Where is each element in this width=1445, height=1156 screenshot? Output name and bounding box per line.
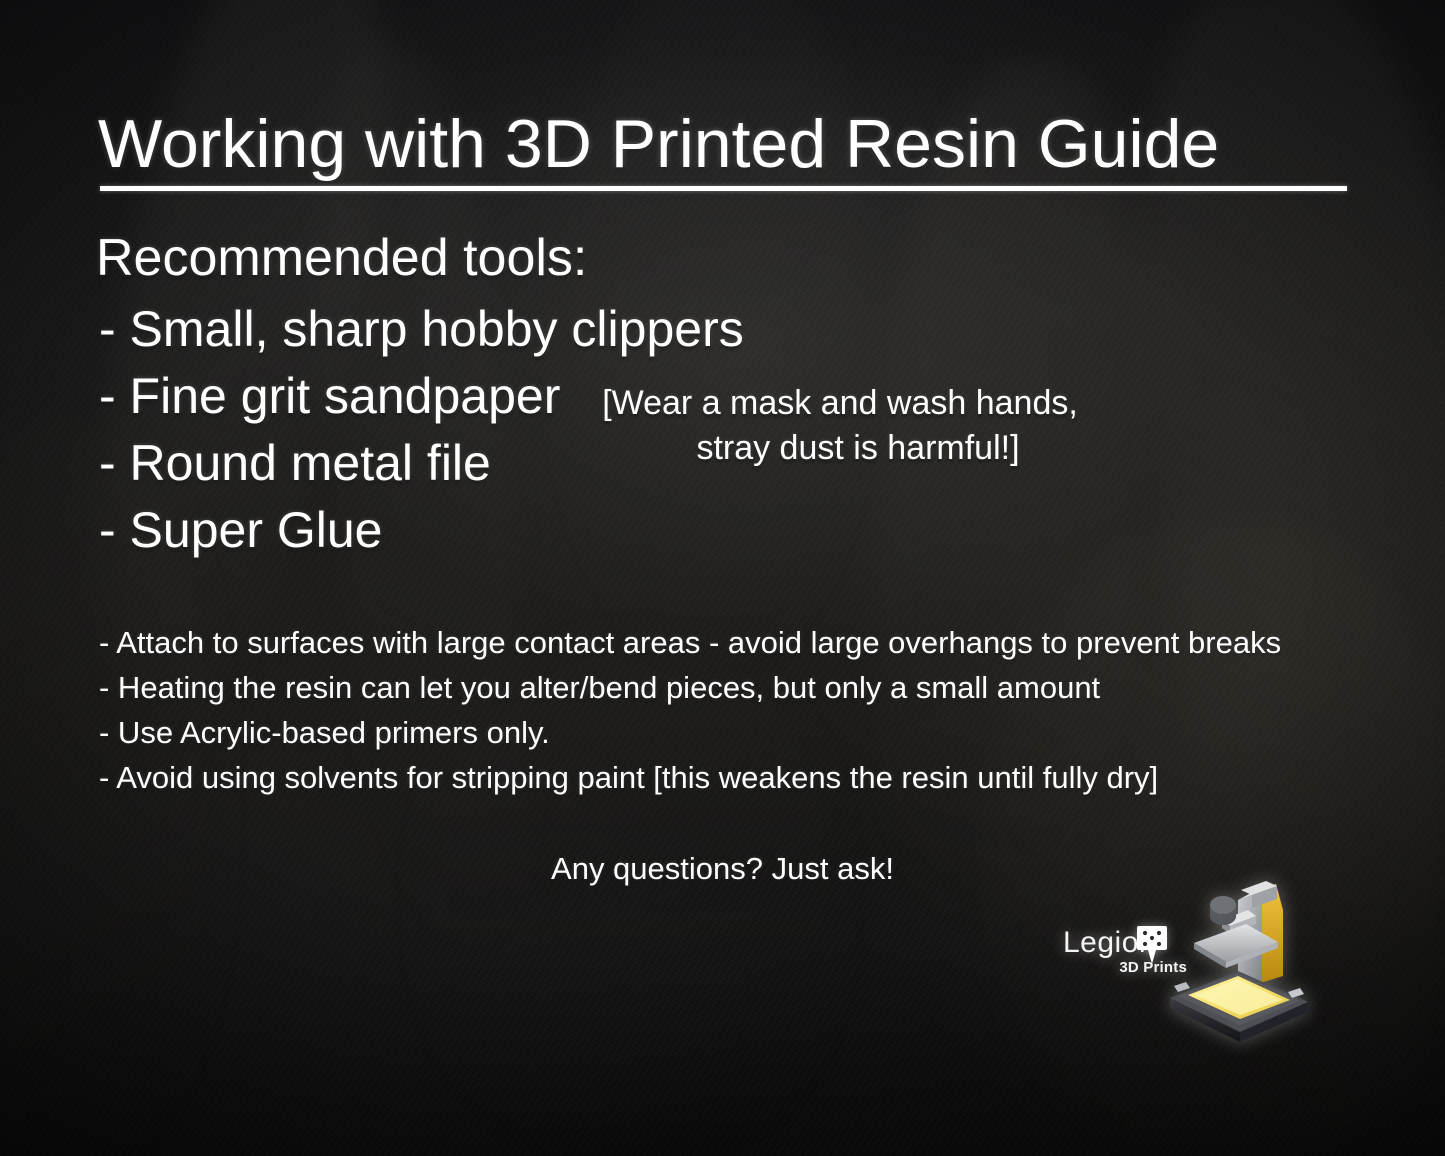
- safety-warning-note: [Wear a mask and wash hands, stray dust …: [600, 381, 1080, 471]
- safety-warning-line-2: stray dust is harmful!]: [600, 426, 1080, 471]
- safety-warning-line-1: [Wear a mask and wash hands,: [600, 381, 1080, 426]
- page-title: Working with 3D Printed Resin Guide: [98, 104, 1219, 184]
- list-item: - Attach to surfaces with large contact …: [99, 620, 1281, 665]
- list-item: - Super Glue: [99, 497, 744, 564]
- resin-3d-printer-icon: [1150, 880, 1325, 1045]
- list-item: - Small, sharp hobby clippers: [99, 296, 744, 363]
- handling-notes-list: - Attach to surfaces with large contact …: [99, 620, 1281, 800]
- slide-content: Working with 3D Printed Resin Guide Reco…: [0, 0, 1445, 1156]
- title-underline-rule: [100, 186, 1347, 191]
- slide-canvas: Working with 3D Printed Resin Guide Reco…: [0, 0, 1445, 1156]
- recommended-tools-heading: Recommended tools:: [96, 228, 587, 288]
- list-item: - Avoid using solvents for stripping pai…: [99, 755, 1281, 800]
- list-item: - Use Acrylic-based primers only.: [99, 710, 1281, 755]
- list-item: - Heating the resin can let you alter/be…: [99, 665, 1281, 710]
- legion-3d-prints-logo: Legion 3D Prints: [1055, 880, 1325, 1045]
